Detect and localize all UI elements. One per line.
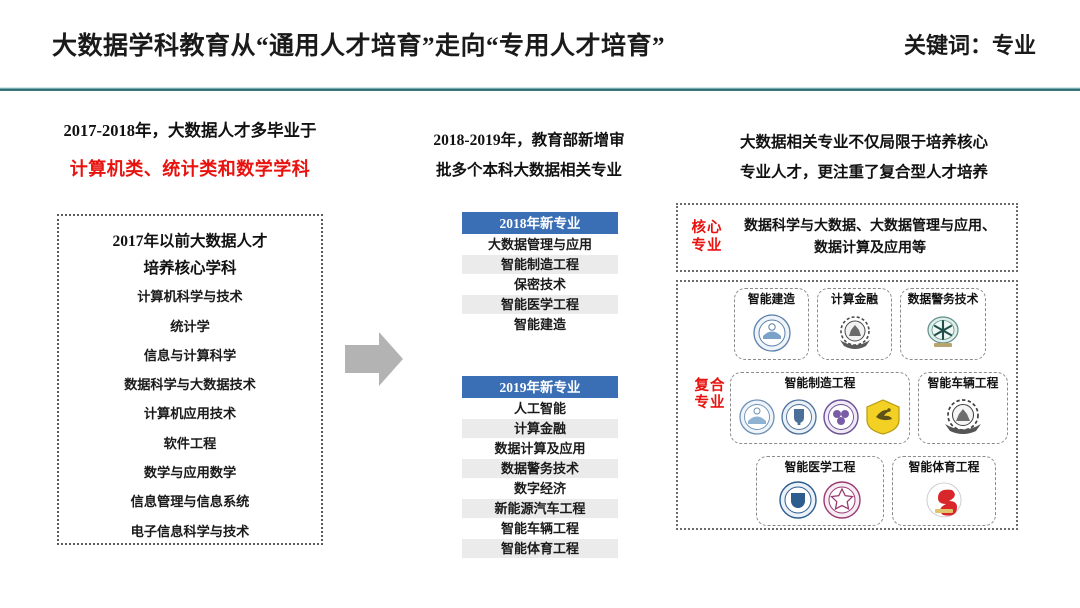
list-item: 计算机应用技术 xyxy=(59,399,321,428)
left-lead-line1: 2017-2018年，大数据人才多毕业于 xyxy=(30,120,350,141)
core-tag-line1: 核心 xyxy=(684,220,730,237)
card-label: 智能医学工程 xyxy=(785,460,856,475)
list-item: 计算机科学与技术 xyxy=(59,282,321,311)
core-majors-box: 核心 专业 数据科学与大数据、大数据管理与应用、 数据计算及应用等 xyxy=(676,203,1018,272)
university-seal-icon xyxy=(752,313,792,353)
card-label: 智能体育工程 xyxy=(909,460,980,475)
card-logos xyxy=(919,391,1007,443)
core-majors-tag: 核心 专业 xyxy=(678,220,730,254)
list-item: 信息与计算科学 xyxy=(59,341,321,370)
slide-header: 大数据学科教育从“通用人才培育”走向“专用人才培育” 关键词：专业 xyxy=(0,26,1080,74)
card-logos xyxy=(901,307,985,359)
right-lead-line2: 专业人才，更注重了复合型人才培养 xyxy=(668,158,1060,188)
major-card-intelligent-vehicle: 智能车辆工程 xyxy=(918,372,1008,444)
list-item: 统计学 xyxy=(59,312,321,341)
table-header-2019: 2019年新专业 xyxy=(462,376,618,399)
university-seal-icon xyxy=(834,313,876,353)
table-row: 智能医学工程 xyxy=(462,295,618,315)
legacy-core-subjects-box: 2017年以前大数据人才 培养核心学科 计算机科学与技术 统计学 信息与计算科学… xyxy=(57,214,323,545)
core-majors-text: 数据科学与大数据、大数据管理与应用、 数据计算及应用等 xyxy=(730,216,1016,259)
table-row: 数据警务技术 xyxy=(462,459,618,479)
major-card-intelligent-manufacturing: 智能制造工程 xyxy=(730,372,910,444)
composite-tag-line1: 复合 xyxy=(686,378,734,395)
middle-lead-line1: 2018-2019年，教育部新增审 xyxy=(398,126,660,156)
card-logos xyxy=(735,307,808,359)
major-card-intelligent-sports: 智能体育工程 xyxy=(892,456,996,526)
core-text-line2: 数据计算及应用等 xyxy=(730,238,1010,260)
table-row: 计算金融 xyxy=(462,419,618,439)
university-seal-icon xyxy=(821,397,861,437)
table-new-majors-2019: 2019年新专业 人工智能 计算金融 数据计算及应用 数据警务技术 数字经济 新… xyxy=(462,376,618,559)
table-row: 新能源汽车工程 xyxy=(462,499,618,519)
card-label: 数据警务技术 xyxy=(908,292,979,307)
table-row: 人工智能 xyxy=(462,399,618,419)
major-card-data-police-technology: 数据警务技术 xyxy=(900,288,986,360)
left-lead-line2-highlight: 计算机类、统计类和数学学科 xyxy=(30,155,350,181)
card-label: 智能车辆工程 xyxy=(928,376,999,391)
right-arrow-icon xyxy=(343,329,405,389)
university-seal-icon xyxy=(940,396,986,438)
police-emblem-icon xyxy=(921,313,965,353)
card-label: 智能制造工程 xyxy=(785,376,856,391)
header-divider xyxy=(0,87,1080,91)
page-title: 大数据学科教育从“通用人才培育”走向“专用人才培育” xyxy=(52,26,665,62)
major-card-intelligent-medicine: 智能医学工程 xyxy=(756,456,884,526)
card-logos xyxy=(757,475,883,525)
table-row: 大数据管理与应用 xyxy=(462,235,618,255)
composite-tag-line2: 专业 xyxy=(686,395,734,412)
core-tag-line2: 专业 xyxy=(684,238,730,255)
university-seal-icon xyxy=(922,479,966,521)
list-item: 电子信息科学与技术 xyxy=(59,517,321,546)
list-item: 软件工程 xyxy=(59,429,321,458)
university-seal-icon xyxy=(863,397,903,437)
column-middle: 2018-2019年，教育部新增审 批多个本科大数据相关专业 2018年新专业 … xyxy=(398,126,660,186)
table-row: 智能建造 xyxy=(462,315,618,335)
card-logos xyxy=(818,307,891,359)
composite-majors-box: 复合 专业 智能建造 计算金融 xyxy=(676,280,1018,530)
table-row: 保密技术 xyxy=(462,275,618,295)
table-row: 智能制造工程 xyxy=(462,255,618,275)
right-lead-line1: 大数据相关专业不仅局限于培养核心 xyxy=(668,128,1060,158)
card-label: 智能建造 xyxy=(748,292,795,307)
slide-root: 大数据学科教育从“通用人才培育”走向“专用人才培育” 关键词：专业 2017-2… xyxy=(0,0,1080,608)
card-label: 计算金融 xyxy=(831,292,878,307)
card-logos xyxy=(893,475,995,525)
composite-majors-tag: 复合 专业 xyxy=(686,378,734,412)
university-seal-icon xyxy=(779,397,819,437)
header-keyword: 关键词：专业 xyxy=(904,28,1036,60)
university-seal-icon xyxy=(777,479,819,521)
core-text-line1: 数据科学与大数据、大数据管理与应用、 xyxy=(730,216,1010,238)
list-item: 数据科学与大数据技术 xyxy=(59,370,321,399)
legacy-box-heading-line2: 培养核心学科 xyxy=(59,255,321,282)
list-item: 信息管理与信息系统 xyxy=(59,487,321,516)
table-header-2018: 2018年新专业 xyxy=(462,212,618,235)
column-right: 大数据相关专业不仅局限于培养核心 专业人才，更注重了复合型人才培养 核心 专业 … xyxy=(668,128,1060,188)
table-row: 数据计算及应用 xyxy=(462,439,618,459)
column-left: 2017-2018年，大数据人才多毕业于 计算机类、统计类和数学学科 2017年… xyxy=(30,120,350,181)
card-logos xyxy=(731,391,909,443)
university-seal-icon xyxy=(737,397,777,437)
legacy-box-heading-line1: 2017年以前大数据人才 xyxy=(59,228,321,255)
table-row: 智能车辆工程 xyxy=(462,519,618,539)
list-item: 数学与应用数学 xyxy=(59,458,321,487)
table-row: 智能体育工程 xyxy=(462,539,618,559)
major-card-computational-finance: 计算金融 xyxy=(817,288,892,360)
university-seal-icon xyxy=(821,479,863,521)
table-new-majors-2018: 2018年新专业 大数据管理与应用 智能制造工程 保密技术 智能医学工程 智能建… xyxy=(462,212,618,335)
middle-lead-line2: 批多个本科大数据相关专业 xyxy=(398,156,660,186)
table-row: 数字经济 xyxy=(462,479,618,499)
major-card-intelligent-construction: 智能建造 xyxy=(734,288,809,360)
